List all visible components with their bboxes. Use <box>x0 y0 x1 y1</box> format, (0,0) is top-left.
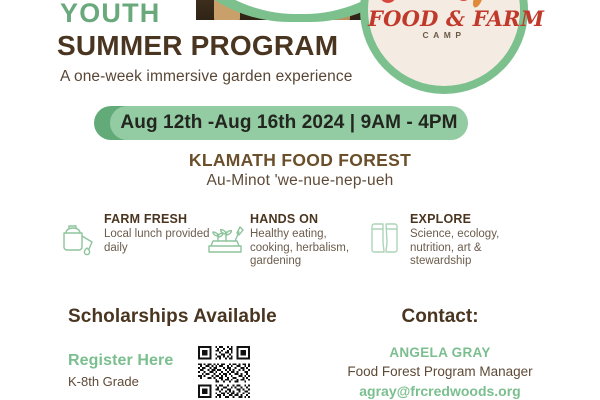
page-title: SUMMER PROGRAM <box>57 30 338 62</box>
feature-farm-fresh: FARM FRESH Local lunch provided daily <box>56 212 212 261</box>
scholarships-heading: Scholarships Available <box>68 306 277 328</box>
page-subtitle: A one-week immersive garden experience <box>60 68 352 86</box>
kicker-text: YOUTH <box>60 0 161 29</box>
garden-bed-seedlings-icon <box>202 215 248 261</box>
feature-desc: Healthy eating, cooking, herbalism, gard… <box>250 228 358 269</box>
logo-title: FOOD & FARM <box>368 6 520 31</box>
feature-title: FARM FRESH <box>104 212 212 226</box>
watering-can-icon <box>56 215 102 261</box>
feature-desc: Science, ecology, nutrition, art & stewa… <box>410 228 518 269</box>
contact-email-link[interactable]: agray@frcredwoods.org <box>280 383 600 399</box>
qr-code-icon[interactable] <box>193 344 255 400</box>
feature-explore: EXPLORE Science, ecology, nutrition, art… <box>362 212 518 269</box>
venue-native-name: Au-Minot 'we-nue-nep-ueh <box>0 172 600 190</box>
feature-title: HANDS ON <box>250 212 358 226</box>
features-row: FARM FRESH Local lunch provided daily <box>52 212 552 292</box>
feature-desc: Local lunch provided daily <box>104 228 212 255</box>
rain-boots-icon <box>362 215 408 261</box>
venue-name: KLAMATH FOOD FOREST <box>0 150 600 171</box>
contact-name: ANGELA GRAY <box>280 345 600 360</box>
feature-title: EXPLORE <box>410 212 518 226</box>
flyer-poster: FOOD & FARM CAMP YOUTH SUMMER PROGRAM A … <box>0 0 600 400</box>
logo-subtitle: CAMP <box>368 30 520 40</box>
contact-heading: Contact: <box>280 306 600 328</box>
grade-range-label: K-8th Grade <box>68 374 139 389</box>
contact-role: Food Forest Program Manager <box>280 364 600 379</box>
date-banner-text: Aug 12th -Aug 16th 2024 | 9AM - 4PM <box>120 112 457 134</box>
date-banner: Aug 12th -Aug 16th 2024 | 9AM - 4PM <box>110 106 468 140</box>
register-link[interactable]: Register Here <box>68 352 173 370</box>
feature-hands-on: HANDS ON Healthy eating, cooking, herbal… <box>202 212 358 269</box>
